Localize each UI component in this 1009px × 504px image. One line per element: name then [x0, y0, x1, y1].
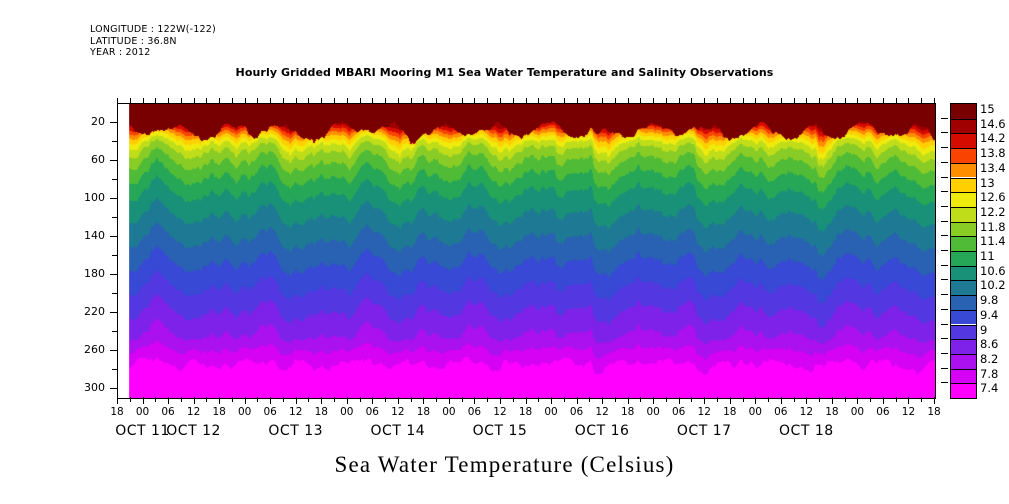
- x-axis-minor-tick: [615, 397, 616, 402]
- colorbar-band: [951, 383, 976, 398]
- colorbar-tick-label: 10.2: [980, 278, 1006, 292]
- colorbar-tick-label: 14.6: [980, 117, 1006, 131]
- x-axis-minor-tick: [896, 98, 897, 103]
- latitude-text: LATITUDE : 36.8N: [90, 36, 177, 47]
- x-axis-day-label: OCT 13: [241, 423, 351, 439]
- x-axis-minor-tick: [640, 397, 641, 402]
- x-axis-minor-tick: [908, 98, 909, 103]
- x-axis-minor-tick: [934, 98, 935, 103]
- colorbar-link-tick: [941, 324, 948, 325]
- x-axis-minor-tick: [691, 397, 692, 402]
- colorbar-band: [951, 163, 976, 178]
- x-axis-tick: [245, 397, 246, 404]
- station-metadata: LONGITUDE : 122W(-122) LATITUDE : 36.8N …: [90, 24, 216, 59]
- x-axis-minor-tick: [781, 98, 782, 103]
- chart-title: Hourly Gridded MBARI Mooring M1 Sea Wate…: [0, 66, 1009, 79]
- x-axis-minor-tick: [130, 397, 131, 402]
- colorbar-link-tick: [941, 353, 948, 354]
- colorbar-link-tick: [941, 279, 948, 280]
- colorbar-link-tick: [941, 368, 948, 369]
- colorbar-tick-label: 10.6: [980, 264, 1006, 278]
- x-axis-tick: [857, 397, 858, 404]
- x-axis-minor-tick: [730, 98, 731, 103]
- colorbar-band: [951, 192, 976, 207]
- x-axis-minor-tick: [474, 98, 475, 103]
- colorbar-link-tick: [941, 132, 948, 133]
- colorbar-link-tick: [941, 309, 948, 310]
- colorbar-band: [951, 280, 976, 295]
- x-axis-minor-tick: [845, 98, 846, 103]
- x-axis-tick: [730, 397, 731, 404]
- y-axis-minor-tick: [112, 217, 117, 218]
- x-axis-minor-tick: [538, 98, 539, 103]
- x-axis-minor-tick: [232, 98, 233, 103]
- x-axis-minor-tick: [513, 397, 514, 402]
- x-axis-minor-tick: [462, 397, 463, 402]
- x-axis-tick: [321, 397, 322, 404]
- x-axis-minor-tick: [219, 98, 220, 103]
- x-axis-day-label: OCT 15: [445, 423, 555, 439]
- colorbar-band: [951, 266, 976, 281]
- x-axis-minor-tick: [743, 397, 744, 402]
- x-axis-minor-tick: [704, 98, 705, 103]
- colorbar-tick-label: 8.6: [980, 337, 998, 351]
- y-axis-label: 60: [45, 153, 105, 166]
- x-axis-minor-tick: [143, 98, 144, 103]
- x-axis-tick: [296, 397, 297, 404]
- x-axis-minor-tick: [270, 98, 271, 103]
- x-axis-minor-tick: [385, 98, 386, 103]
- y-axis-minor-tick: [112, 293, 117, 294]
- y-axis-label: 180: [45, 267, 105, 280]
- x-axis-tick: [143, 397, 144, 404]
- colorbar-band: [951, 236, 976, 251]
- x-axis-tick: [500, 397, 501, 404]
- x-axis-minor-tick: [870, 98, 871, 103]
- x-axis-minor-tick: [449, 98, 450, 103]
- x-axis-minor-tick: [896, 397, 897, 402]
- y-axis-tick: [110, 350, 117, 351]
- x-axis-minor-tick: [615, 98, 616, 103]
- x-axis-minor-tick: [538, 397, 539, 402]
- x-axis-minor-tick: [551, 98, 552, 103]
- colorbar-band: [951, 325, 976, 340]
- x-axis-minor-tick: [819, 98, 820, 103]
- colorbar-band: [951, 354, 976, 369]
- y-axis-tick: [110, 274, 117, 275]
- colorbar-tick-label: 9.8: [980, 293, 998, 307]
- x-axis-tick: [755, 397, 756, 404]
- x-axis-tick: [168, 397, 169, 404]
- x-axis-minor-tick: [181, 397, 182, 402]
- x-axis-minor-tick: [921, 397, 922, 402]
- x-axis-minor-tick: [513, 98, 514, 103]
- y-axis-minor-tick: [112, 331, 117, 332]
- x-axis-tick: [602, 397, 603, 404]
- x-axis-minor-tick: [666, 98, 667, 103]
- colorbar-link-tick: [941, 221, 948, 222]
- colorbar-band: [951, 119, 976, 134]
- y-axis-label: 260: [45, 343, 105, 356]
- x-axis-tick: [347, 397, 348, 404]
- temperature-section-canvas: [118, 104, 935, 398]
- colorbar-link-tick: [941, 265, 948, 266]
- x-axis-day-label: OCT 12: [139, 423, 249, 439]
- contour-plot: [117, 103, 936, 399]
- x-axis-minor-tick: [206, 397, 207, 402]
- colorbar-link-tick: [941, 162, 948, 163]
- x-axis-minor-tick: [206, 98, 207, 103]
- x-axis-minor-tick: [819, 397, 820, 402]
- x-axis-minor-tick: [423, 98, 424, 103]
- x-axis-minor-tick: [577, 98, 578, 103]
- colorbar-band: [951, 148, 976, 163]
- x-axis-minor-tick: [283, 98, 284, 103]
- colorbar-band: [951, 133, 976, 148]
- y-axis-minor-tick: [112, 141, 117, 142]
- colorbar-tick-label: 14.2: [980, 131, 1006, 145]
- colorbar-tick-label: 9: [980, 323, 987, 337]
- colorbar-tick-label: 7.8: [980, 367, 998, 381]
- x-axis-minor-tick: [487, 397, 488, 402]
- x-axis-minor-tick: [794, 98, 795, 103]
- x-axis-minor-tick: [717, 397, 718, 402]
- x-axis-minor-tick: [411, 98, 412, 103]
- x-axis-tick: [577, 397, 578, 404]
- x-axis-minor-tick: [602, 98, 603, 103]
- colorbar-tick-label: 13: [980, 176, 995, 190]
- x-axis-minor-tick: [845, 397, 846, 402]
- x-axis-minor-tick: [232, 397, 233, 402]
- x-axis-minor-tick: [640, 98, 641, 103]
- x-axis-minor-tick: [806, 98, 807, 103]
- x-axis-minor-tick: [832, 98, 833, 103]
- y-axis-label: 100: [45, 191, 105, 204]
- x-axis-minor-tick: [347, 98, 348, 103]
- x-axis-minor-tick: [857, 98, 858, 103]
- x-axis-minor-tick: [462, 98, 463, 103]
- y-axis-tick: [110, 122, 117, 123]
- x-axis-minor-tick: [117, 98, 118, 103]
- colorbar-band: [951, 310, 976, 325]
- no-data-region: [118, 104, 129, 398]
- x-axis-day-label: OCT 14: [343, 423, 453, 439]
- x-axis-tick: [474, 397, 475, 404]
- x-axis-hour-label: 18: [914, 406, 954, 418]
- x-axis-minor-tick: [283, 397, 284, 402]
- x-axis-minor-tick: [589, 397, 590, 402]
- x-axis-minor-tick: [436, 98, 437, 103]
- x-axis-minor-tick: [436, 397, 437, 402]
- x-axis-minor-tick: [372, 98, 373, 103]
- colorbar-link-tick: [941, 191, 948, 192]
- y-axis-label: 140: [45, 229, 105, 242]
- colorbar-link-tick: [941, 382, 948, 383]
- x-axis-minor-tick: [360, 98, 361, 103]
- x-axis-tick: [883, 397, 884, 404]
- x-axis-minor-tick: [870, 397, 871, 402]
- colorbar-tick-label: 11.8: [980, 220, 1006, 234]
- y-axis-tick: [110, 198, 117, 199]
- x-axis-minor-tick: [679, 98, 680, 103]
- colorbar-link-tick: [941, 250, 948, 251]
- longitude-text: LONGITUDE : 122W(-122): [90, 24, 216, 35]
- colorbar-band: [951, 369, 976, 384]
- colorbar-band: [951, 222, 976, 237]
- x-axis-minor-tick: [321, 98, 322, 103]
- x-axis-tick: [219, 397, 220, 404]
- x-axis-tick: [832, 397, 833, 404]
- x-axis-minor-tick: [666, 397, 667, 402]
- x-axis-minor-tick: [564, 98, 565, 103]
- y-axis-label: 300: [45, 381, 105, 394]
- x-axis-day-label: OCT 17: [649, 423, 759, 439]
- colorbar-tick-label: 7.4: [980, 381, 998, 395]
- x-axis-minor-tick: [411, 397, 412, 402]
- x-axis-minor-tick: [398, 98, 399, 103]
- x-axis-minor-tick: [194, 98, 195, 103]
- colorbar-link-tick: [941, 118, 948, 119]
- x-axis-minor-tick: [155, 98, 156, 103]
- x-axis-minor-tick: [717, 98, 718, 103]
- colorbar-tick-label: 9.4: [980, 308, 998, 322]
- y-axis-tick: [110, 312, 117, 313]
- x-axis-minor-tick: [768, 98, 769, 103]
- x-axis-minor-tick: [130, 98, 131, 103]
- variable-title: Sea Water Temperature (Celsius): [0, 452, 1009, 478]
- x-axis-minor-tick: [308, 397, 309, 402]
- x-axis-minor-tick: [564, 397, 565, 402]
- colorbar-tick-label: 15: [980, 102, 995, 116]
- y-axis-label: 20: [45, 115, 105, 128]
- colorbar-link-tick: [941, 338, 948, 339]
- x-axis-minor-tick: [155, 397, 156, 402]
- x-axis-minor-tick: [487, 98, 488, 103]
- x-axis-tick: [628, 397, 629, 404]
- x-axis-tick: [449, 397, 450, 404]
- colorbar-band: [951, 178, 976, 193]
- x-axis-minor-tick: [385, 397, 386, 402]
- y-axis-tick: [110, 388, 117, 389]
- colorbar-link-tick: [941, 294, 948, 295]
- x-axis-minor-tick: [245, 98, 246, 103]
- x-axis-minor-tick: [296, 98, 297, 103]
- y-axis-tick: [110, 160, 117, 161]
- x-axis-tick: [806, 397, 807, 404]
- y-axis-minor-tick: [112, 179, 117, 180]
- x-axis-minor-tick: [794, 397, 795, 402]
- x-axis-minor-tick: [755, 98, 756, 103]
- y-axis-label: 220: [45, 305, 105, 318]
- colorbar-band: [951, 339, 976, 354]
- colorbar-link-tick: [941, 235, 948, 236]
- x-axis-tick: [423, 397, 424, 404]
- x-axis-tick: [679, 397, 680, 404]
- x-axis-tick: [270, 397, 271, 404]
- x-axis-tick: [781, 397, 782, 404]
- x-axis-tick: [372, 397, 373, 404]
- colorbar-tick-label: 8.2: [980, 352, 998, 366]
- x-axis-minor-tick: [500, 98, 501, 103]
- y-axis-minor-tick: [112, 255, 117, 256]
- colorbar-tick-label: 13.4: [980, 161, 1006, 175]
- x-axis-minor-tick: [526, 98, 527, 103]
- x-axis-tick: [117, 397, 118, 404]
- x-axis-minor-tick: [921, 98, 922, 103]
- x-axis-tick: [908, 397, 909, 404]
- x-axis-day-label: OCT 18: [751, 423, 861, 439]
- x-axis-minor-tick: [743, 98, 744, 103]
- colorbar-band: [951, 295, 976, 310]
- x-axis-minor-tick: [181, 98, 182, 103]
- x-axis-tick: [398, 397, 399, 404]
- x-axis-minor-tick: [691, 98, 692, 103]
- x-axis-tick: [194, 397, 195, 404]
- x-axis-minor-tick: [653, 98, 654, 103]
- x-axis-day-label: OCT 16: [547, 423, 657, 439]
- x-axis-tick: [526, 397, 527, 404]
- x-axis-minor-tick: [883, 98, 884, 103]
- colorbar-tick-label: 12.6: [980, 190, 1006, 204]
- colorbar-tick-label: 13.8: [980, 146, 1006, 160]
- colorbar-link-tick: [941, 206, 948, 207]
- x-axis-minor-tick: [168, 98, 169, 103]
- x-axis-tick: [551, 397, 552, 404]
- x-axis-minor-tick: [257, 397, 258, 402]
- colorbar: [950, 103, 977, 399]
- colorbar-band: [951, 104, 976, 119]
- colorbar-link-tick: [941, 177, 948, 178]
- colorbar-tick-label: 11.4: [980, 234, 1006, 248]
- x-axis-minor-tick: [768, 397, 769, 402]
- y-axis-minor-tick: [112, 369, 117, 370]
- y-axis-tick: [110, 236, 117, 237]
- x-axis-minor-tick: [308, 98, 309, 103]
- x-axis-minor-tick: [257, 98, 258, 103]
- colorbar-link-tick: [941, 147, 948, 148]
- x-axis-tick: [704, 397, 705, 404]
- colorbar-tick-label: 11: [980, 249, 995, 263]
- colorbar-band: [951, 251, 976, 266]
- x-axis-minor-tick: [334, 397, 335, 402]
- x-axis-tick: [934, 397, 935, 404]
- x-axis-minor-tick: [334, 98, 335, 103]
- colorbar-band: [951, 207, 976, 222]
- colorbar-tick-label: 12.2: [980, 205, 1006, 219]
- x-axis-minor-tick: [360, 397, 361, 402]
- x-axis-minor-tick: [589, 98, 590, 103]
- x-axis-tick: [653, 397, 654, 404]
- year-text: YEAR : 2012: [90, 47, 151, 58]
- x-axis-minor-tick: [628, 98, 629, 103]
